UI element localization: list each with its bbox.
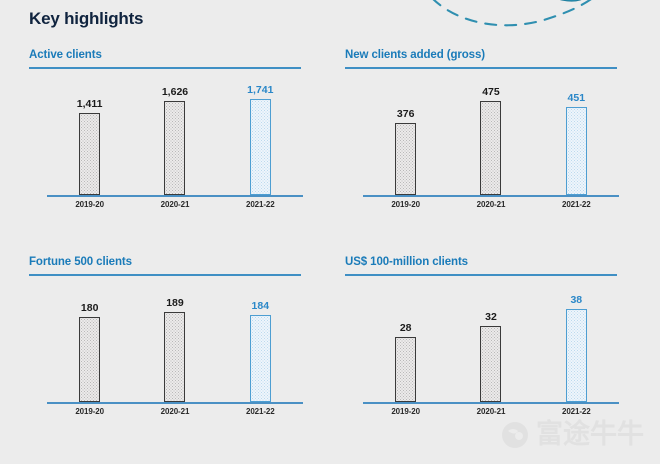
bar-value-label: 1,741	[247, 85, 273, 96]
panel-active-clients: Active clients 1,411 1,626 1,741 2019	[29, 48, 321, 223]
panel-rule	[29, 67, 301, 69]
bar[interactable]	[395, 337, 416, 402]
x-axis-label: 2019-20	[59, 200, 121, 214]
x-axis-line	[47, 402, 303, 404]
x-axis-line	[363, 195, 619, 197]
bar-group: 38	[545, 292, 607, 402]
x-axis-line	[47, 195, 303, 197]
x-axis-label: 2019-20	[375, 407, 437, 421]
page-title: Key highlights	[29, 9, 143, 29]
bar[interactable]	[480, 101, 501, 195]
bar-group: 184	[229, 292, 291, 402]
bar-group: 1,741	[229, 85, 291, 195]
bar-value-label: 184	[252, 301, 270, 312]
x-axis-label: 2020-21	[144, 407, 206, 421]
bar-value-label: 180	[81, 303, 99, 314]
bar-group: 189	[144, 292, 206, 402]
panel-fortune-500-clients: Fortune 500 clients 180 189 184 2019-	[29, 255, 321, 430]
bar-value-label: 451	[568, 93, 586, 104]
bar-chart-new-clients-added: 376 475 451 2019-20 2020-21 2021-22	[345, 72, 637, 222]
x-axis-label: 2021-22	[545, 407, 607, 421]
x-axis-label: 2020-21	[460, 407, 522, 421]
panel-title: Active clients	[29, 48, 321, 63]
bar[interactable]	[164, 312, 185, 402]
x-axis-label: 2019-20	[59, 407, 121, 421]
bar[interactable]	[480, 326, 501, 402]
bar-group: 475	[460, 85, 522, 195]
bar-value-label: 38	[570, 295, 582, 306]
panel-us-100-million-clients: US$ 100-million clients 28 32 38 2019	[345, 255, 637, 430]
bar-chart-active-clients: 1,411 1,626 1,741 2019-20 2020-21 2021-2…	[29, 72, 321, 222]
bar-group: 28	[375, 292, 437, 402]
bar-value-label: 376	[397, 109, 415, 120]
dashed-arc-arrow-graphic	[430, 0, 610, 32]
bar-group: 451	[545, 85, 607, 195]
x-axis-label: 2020-21	[460, 200, 522, 214]
panel-title: US$ 100-million clients	[345, 255, 637, 270]
bar-group: 376	[375, 85, 437, 195]
panel-title: Fortune 500 clients	[29, 255, 321, 270]
x-axis-label: 2020-21	[144, 200, 206, 214]
panel-rule	[345, 274, 617, 276]
panel-rule	[29, 274, 301, 276]
x-axis-label: 2021-22	[229, 407, 291, 421]
bar-group: 1,626	[144, 85, 206, 195]
bar[interactable]	[395, 123, 416, 195]
bar-value-label: 475	[482, 87, 500, 98]
bar[interactable]	[164, 101, 185, 195]
bar-value-label: 28	[400, 323, 412, 334]
x-axis-label: 2021-22	[545, 200, 607, 214]
bar-group: 1,411	[59, 85, 121, 195]
bar-chart-us-100-million-clients: 28 32 38 2019-20 2020-21 2021-22	[345, 279, 637, 429]
bar-value-label: 32	[485, 312, 497, 323]
bar[interactable]	[250, 99, 271, 195]
panel-new-clients-added: New clients added (gross) 376 475 451	[345, 48, 637, 223]
x-axis-label: 2019-20	[375, 200, 437, 214]
key-highlights-page: Key highlights Active clients 1,411 1,62…	[0, 0, 660, 464]
panel-rule	[345, 67, 617, 69]
bar[interactable]	[79, 317, 100, 402]
panel-title: New clients added (gross)	[345, 48, 637, 63]
bar[interactable]	[566, 309, 587, 402]
bar-value-label: 189	[166, 298, 184, 309]
x-axis-line	[363, 402, 619, 404]
x-axis-label: 2021-22	[229, 200, 291, 214]
bar[interactable]	[250, 315, 271, 402]
bar[interactable]	[566, 107, 587, 195]
bar-group: 180	[59, 292, 121, 402]
bar-chart-fortune-500-clients: 180 189 184 2019-20 2020-21 2021-22	[29, 279, 321, 429]
bar-group: 32	[460, 292, 522, 402]
bar-value-label: 1,411	[77, 99, 103, 110]
bar[interactable]	[79, 113, 100, 195]
bar-value-label: 1,626	[162, 87, 188, 98]
